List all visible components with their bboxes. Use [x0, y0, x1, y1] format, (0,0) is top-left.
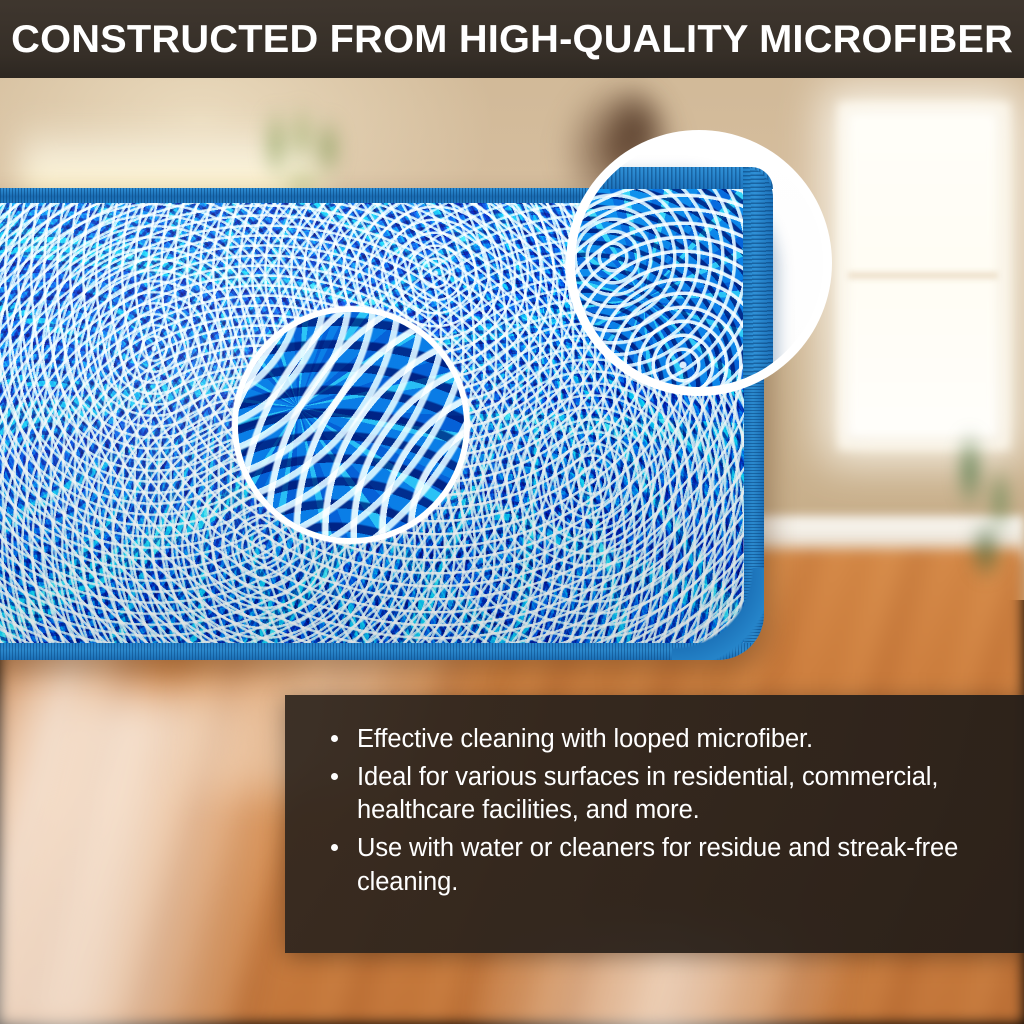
- feature-bullets-list: Effective cleaning with looped microfibe…: [329, 723, 990, 899]
- header-banner: CONSTRUCTED FROM HIGH-QUALITY MICROFIBER: [0, 0, 1024, 78]
- page-title: CONSTRUCTED FROM HIGH-QUALITY MICROFIBER: [11, 20, 1013, 59]
- corner-closeup-circle: [566, 130, 832, 396]
- bullet-text: Effective cleaning with looped microfibe…: [357, 725, 813, 753]
- list-item: Effective cleaning with looped microfibe…: [329, 723, 990, 756]
- bullet-dot-icon: [331, 773, 338, 780]
- window-mullion: [848, 272, 998, 279]
- corner-closeup-content: [575, 139, 823, 387]
- list-item: Ideal for various surfaces in residentia…: [329, 761, 990, 827]
- list-item: Use with water or cleaners for residue a…: [329, 832, 990, 898]
- infographic-canvas: CONSTRUCTED FROM HIGH-QUALITY MICROFIBER…: [0, 0, 1024, 1024]
- feature-bullets-panel: Effective cleaning with looped microfibe…: [285, 695, 1024, 953]
- plant-right: [930, 400, 1024, 590]
- bullet-dot-icon: [331, 844, 338, 851]
- texture-closeup-circle: [232, 306, 470, 544]
- bullet-dot-icon: [331, 735, 338, 742]
- bullet-text: Ideal for various surfaces in residentia…: [357, 763, 938, 824]
- bullet-text: Use with water or cleaners for residue a…: [357, 834, 958, 895]
- mop-pad-binding-bottom: [0, 643, 764, 660]
- corner-closeup-binding-edge: [743, 167, 773, 387]
- plant-left: [236, 84, 376, 194]
- mop-pad-rounded-corner: [672, 568, 764, 660]
- texture-closeup-content: [232, 306, 470, 544]
- corner-closeup-pad: [575, 167, 773, 387]
